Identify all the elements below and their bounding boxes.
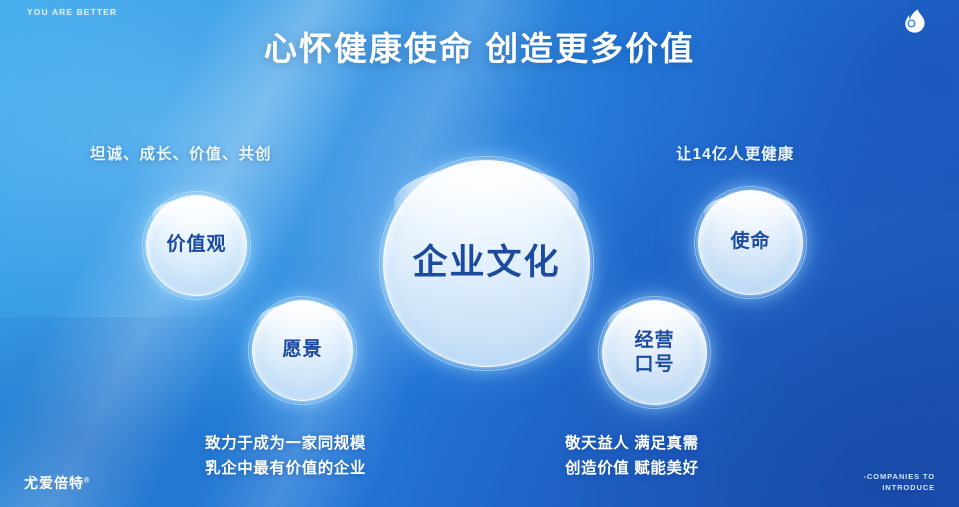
- footer-brand-name: 尤爱倍特: [24, 475, 84, 491]
- footer-brand-logo: 尤爱倍特®: [24, 473, 89, 493]
- footer-note: -COMPANIES TO INTRODUCE: [864, 471, 935, 493]
- bubble-values-label: 价值观: [166, 234, 226, 256]
- bubble-slogan-label: 经营 口号: [634, 329, 674, 375]
- vision-description: 致力于成为一家同规模 乳企中最有价值的企业: [205, 431, 366, 481]
- bubble-slogan[interactable]: 经营 口号: [602, 300, 707, 405]
- bubble-mission-label: 使命: [730, 231, 770, 253]
- bubble-vision-label: 愿景: [282, 339, 322, 361]
- registered-mark-icon: ®: [84, 477, 89, 484]
- kicker-text: YOU ARE BETTER: [27, 7, 117, 18]
- mission-caption-label: 让14亿人更健康: [676, 142, 794, 164]
- bubble-mission[interactable]: 使命: [698, 190, 803, 295]
- bubble-vision[interactable]: 愿景: [252, 300, 353, 401]
- flame-droplet-icon: [898, 6, 932, 40]
- bubble-culture-label: 企业文化: [412, 243, 560, 284]
- page-title: 心怀健康使命 创造更多价值: [0, 22, 959, 70]
- values-caption-label: 坦诚、成长、价值、共创: [90, 142, 272, 164]
- bubble-values[interactable]: 价值观: [146, 195, 247, 296]
- slide-canvas: YOU ARE BETTER 心怀健康使命 创造更多价值 坦诚、成长、价值、共创…: [0, 0, 959, 507]
- slogan-description: 敬天益人 满足真需 创造价值 赋能美好: [565, 431, 699, 481]
- bubble-culture[interactable]: 企业文化: [383, 160, 590, 367]
